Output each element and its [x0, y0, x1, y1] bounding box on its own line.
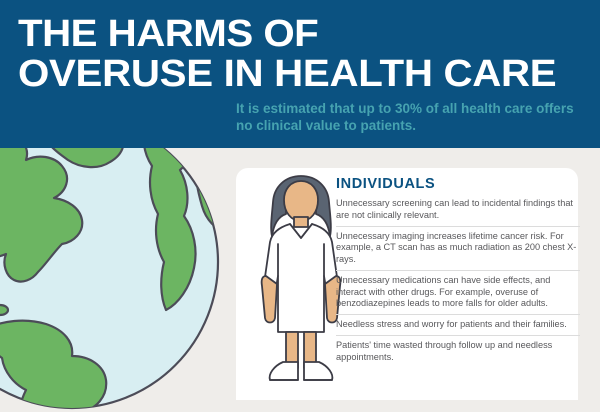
subtitle: It is estimated that up to 30% of all he… — [236, 100, 586, 134]
header-band: THE HARMS OF OVERUSE IN HEALTH CARE It i… — [0, 0, 600, 148]
list-item: Patients' time wasted through follow up … — [336, 335, 580, 368]
title-line-1: THE HARMS OF — [18, 14, 600, 54]
list-item: Unnecessary imaging increases lifetime c… — [336, 226, 580, 270]
title-line-2: OVERUSE IN HEALTH CARE — [18, 54, 600, 94]
list-item: Unnecessary screening can lead to incide… — [336, 197, 580, 226]
card-content: INDIVIDUALS Unnecessary screening can le… — [336, 175, 580, 400]
globe-illustration — [0, 112, 222, 412]
card-heading: INDIVIDUALS — [336, 175, 580, 193]
fact-list: Unnecessary screening can lead to incide… — [336, 197, 580, 368]
page-title: THE HARMS OF OVERUSE IN HEALTH CARE — [18, 14, 600, 94]
list-item: Unnecessary medications can have side ef… — [336, 270, 580, 314]
list-item: Needless stress and worry for patients a… — [336, 314, 580, 335]
